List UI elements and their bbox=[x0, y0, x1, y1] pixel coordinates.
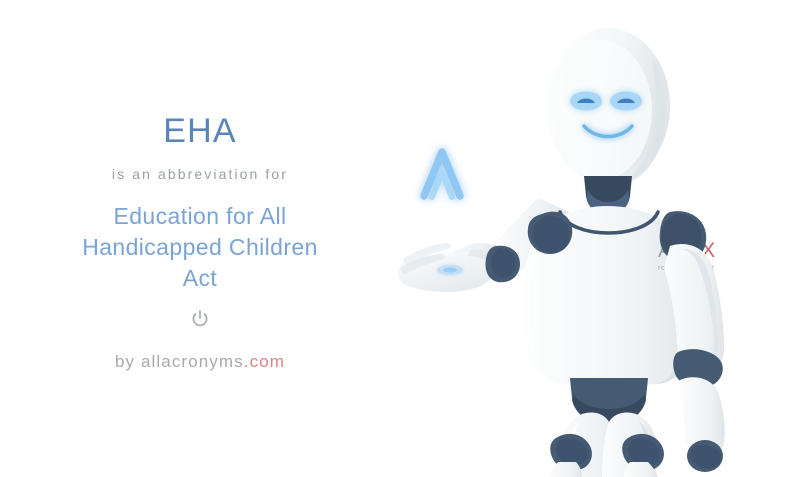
palm-emitter-glow bbox=[437, 265, 463, 275]
acronym-definition-card: EHA is an abbreviation for Education for… bbox=[0, 0, 801, 477]
power-icon bbox=[0, 306, 400, 332]
chevron-up-hologram-icon bbox=[424, 152, 460, 197]
expansion-line-2: Handicapped Children bbox=[0, 232, 400, 263]
page-title: EHA bbox=[0, 111, 400, 151]
byline-prefix: by bbox=[115, 352, 135, 371]
robot-illustration: ALEX robot assistant bbox=[370, 0, 801, 477]
abbreviation-note: is an abbreviation for bbox=[0, 163, 400, 185]
text-panel: EHA is an abbreviation for Education for… bbox=[0, 0, 400, 477]
expansion-line-1: Education for All bbox=[0, 201, 400, 232]
byline-site-name: allacronyms bbox=[141, 352, 244, 371]
byline[interactable]: by allacronyms.com bbox=[0, 350, 400, 374]
expansion-line-3: Act bbox=[0, 263, 400, 294]
byline-site-tld: .com bbox=[244, 352, 285, 371]
robot-left-shin bbox=[548, 462, 582, 477]
expansion-text: Education for All Handicapped Children A… bbox=[0, 201, 400, 294]
